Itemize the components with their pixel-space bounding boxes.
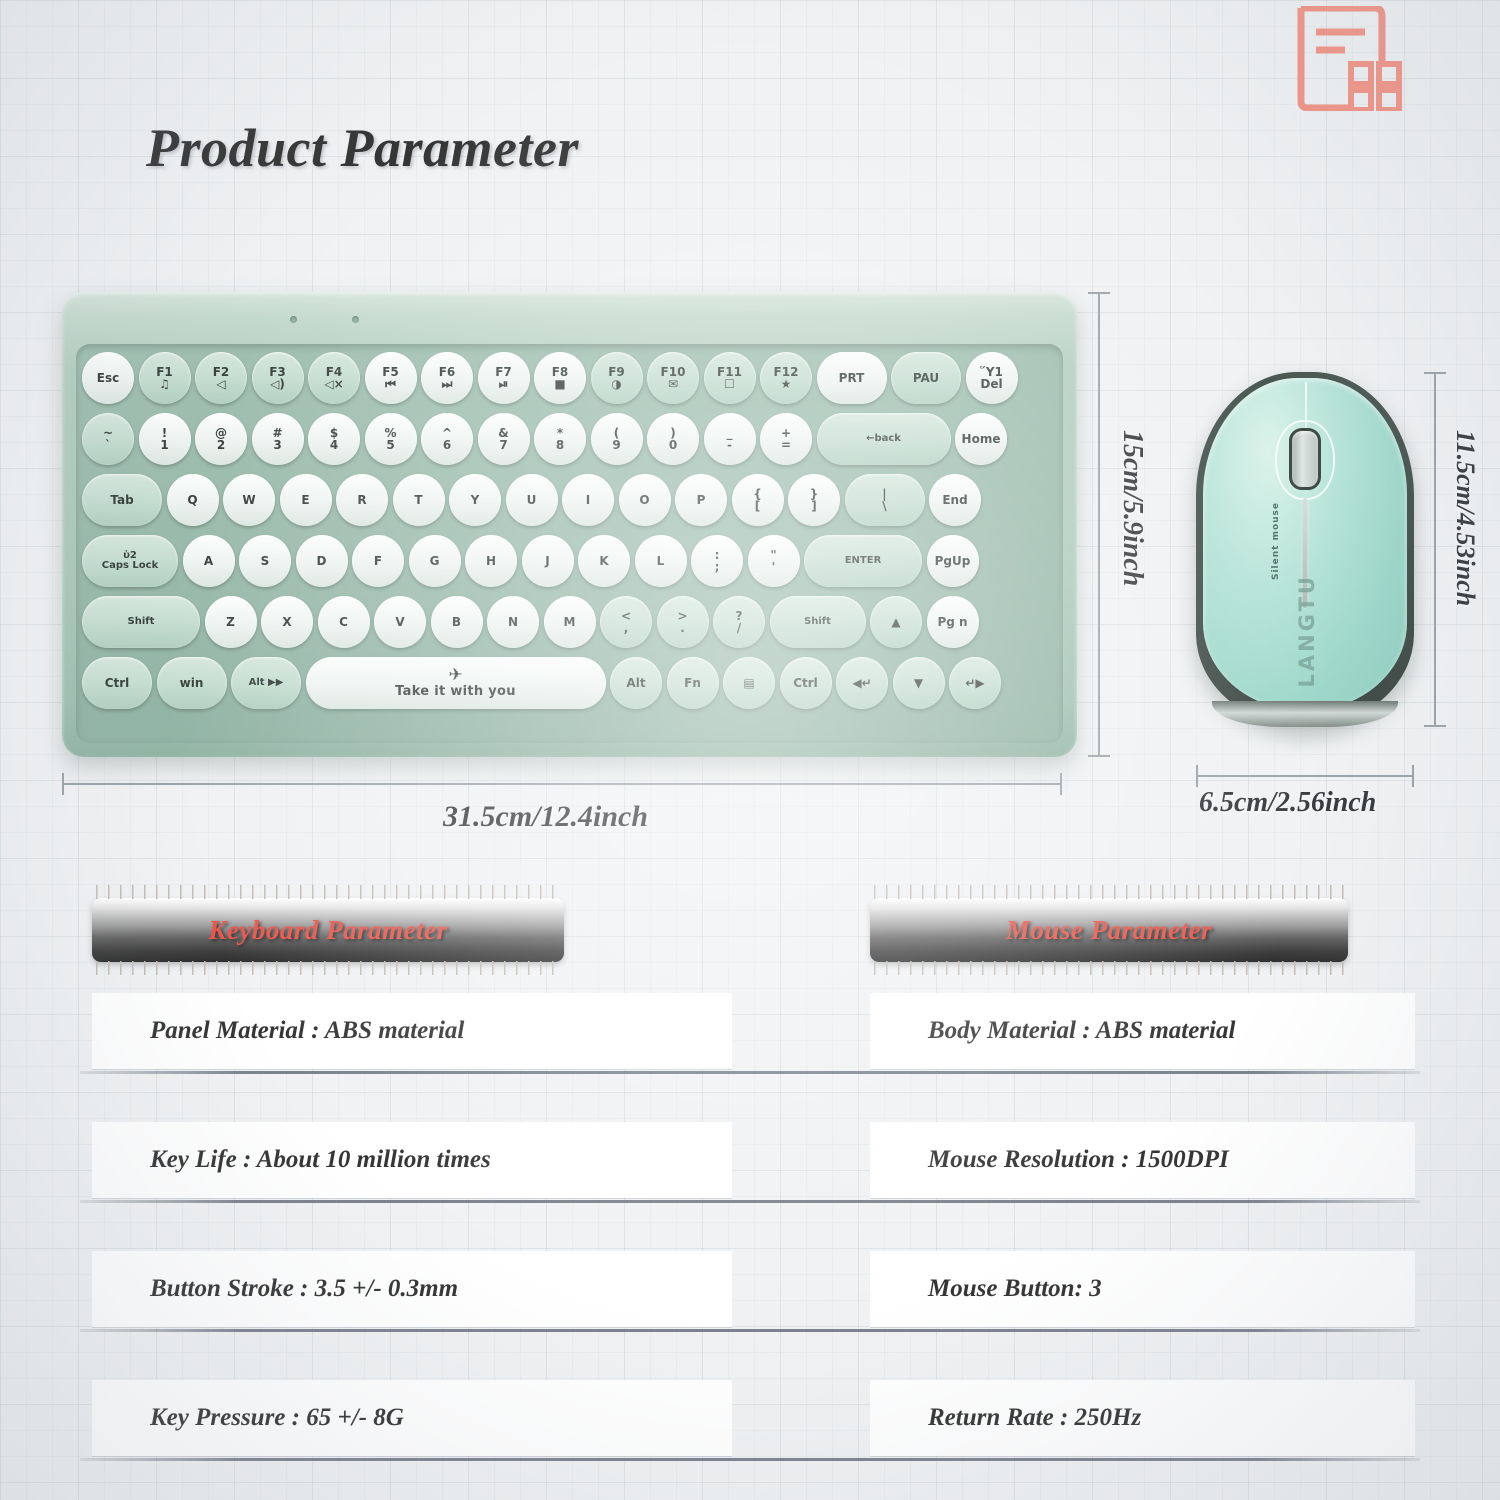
mouse-width-cap-right <box>1412 765 1414 787</box>
key-main-legend: S <box>261 555 270 567</box>
param-row-divider <box>80 1071 1420 1074</box>
page-title: Product Parameter <box>146 117 579 179</box>
key-main-legend: T <box>414 494 422 506</box>
key-v[interactable]: V <box>374 596 426 648</box>
mouse-param-text: Return Rate : 250Hz <box>870 1404 1141 1432</box>
key-6[interactable]: ^6 <box>421 413 473 465</box>
key-x[interactable]: X <box>261 596 313 648</box>
key-main-legend: ▤ <box>743 677 754 689</box>
key-key[interactable]: ◀↵ <box>836 657 888 709</box>
key-l[interactable]: L <box>635 535 687 587</box>
key-alt[interactable]: Alt <box>610 657 662 709</box>
key-main-legend: ★ <box>781 378 792 390</box>
key-shift[interactable]: Shift <box>770 596 866 648</box>
key-w[interactable]: W <box>223 474 275 526</box>
mouse-param-row: Return Rate : 250Hz <box>870 1380 1415 1456</box>
key-main-legend: 7 <box>499 439 507 451</box>
key-main-legend: Ctrl <box>105 677 130 689</box>
key-5[interactable]: %5 <box>365 413 417 465</box>
key-main-legend: Shift <box>128 617 155 627</box>
key-key[interactable]: F7⏯ <box>478 352 530 404</box>
mouse-top-surface: Silent mouse LANGTU <box>1203 378 1407 711</box>
banner-ticks-top <box>874 885 1344 899</box>
banner-ticks-bottom <box>96 961 560 975</box>
keyboard-param-text: Button Stroke : 3.5 +/- 0.3mm <box>92 1275 458 1303</box>
key-main-legend: D <box>317 555 327 567</box>
key-main-legend: [ <box>755 500 760 512</box>
keyboard-height-dim-line <box>1098 292 1100 757</box>
key-main-legend: ♫ <box>159 378 170 390</box>
key-main-legend: 8 <box>556 439 564 451</box>
key-home[interactable]: Home <box>955 413 1007 465</box>
key-win[interactable]: win <box>157 657 227 709</box>
key-key[interactable]: <, <box>600 596 652 648</box>
key-esc[interactable]: Esc <box>82 352 134 404</box>
key-alt[interactable]: Alt ▶▶ <box>231 657 301 709</box>
key-main-legend: X <box>282 616 291 628</box>
key-main-legend: PRT <box>839 372 865 384</box>
key-key[interactable]: F3◁) <box>252 352 304 404</box>
key-main-legend: ■ <box>554 378 565 390</box>
key-main-legend: PgUp <box>935 555 971 567</box>
keyboard-height-cap-top <box>1088 292 1110 294</box>
key-main-legend: Tab <box>110 494 133 506</box>
key-end[interactable]: End <box>929 474 981 526</box>
key-shift[interactable]: Shift <box>82 596 200 648</box>
mouse-image: Silent mouse LANGTU <box>1196 372 1414 727</box>
key-z[interactable]: Z <box>205 596 257 648</box>
keyboard-param-text: Panel Material : ABS material <box>92 1017 464 1045</box>
spacebar-slogan: Take it with you <box>395 685 516 698</box>
key-main-legend: ` <box>105 439 111 451</box>
key-0[interactable]: )0 <box>647 413 699 465</box>
keyboard-param-row: Key Life : About 10 million times <box>92 1122 732 1198</box>
key-main-legend: ◁× <box>324 378 343 390</box>
key-main-legend: Y <box>471 494 480 506</box>
key-key[interactable]: F10✉ <box>647 352 699 404</box>
key-main-legend: ←back <box>866 434 901 444</box>
mouse-param-row: Mouse Button: 3 <box>870 1251 1415 1327</box>
key-main-legend: . <box>680 622 685 634</box>
key-key[interactable]: |\ <box>845 474 925 526</box>
key-c[interactable]: C <box>318 596 370 648</box>
key-h[interactable]: H <box>465 535 517 587</box>
key-main-legend: G <box>430 555 440 567</box>
key-e[interactable]: E <box>280 474 332 526</box>
key-del[interactable]: Ὕ1Del <box>966 352 1018 404</box>
key-key[interactable]: F8■ <box>534 352 586 404</box>
key-a[interactable]: A <box>183 535 235 587</box>
key-pgup[interactable]: PgUp <box>927 535 979 587</box>
key-main-legend: J <box>545 555 549 567</box>
key-key[interactable]: ▲ <box>870 596 922 648</box>
mouse-parameter-banner-label: Mouse Parameter <box>1006 915 1212 946</box>
key-main-legend: ▼ <box>914 677 923 689</box>
key-key[interactable]: ▤ <box>723 657 775 709</box>
key-main-legend: Z <box>226 616 235 628</box>
key-u[interactable]: U <box>506 474 558 526</box>
key-main-legend: ENTER <box>845 556 882 566</box>
key-m[interactable]: M <box>544 596 596 648</box>
key-main-legend: 9 <box>612 439 620 451</box>
key-9[interactable]: (9 <box>591 413 643 465</box>
key-main-legend: Q <box>187 494 197 506</box>
key-main-legend: 6 <box>443 439 451 451</box>
document-list-grid-icon <box>1283 6 1403 111</box>
key-main-legend: ' <box>772 561 776 573</box>
key-o[interactable]: O <box>619 474 671 526</box>
key-3[interactable]: #3 <box>252 413 304 465</box>
keyboard-height-label: 15cm/5.9inch <box>1116 430 1148 586</box>
airplane-icon: ✈ <box>448 667 462 684</box>
key-main-legend: 1 <box>160 439 168 451</box>
key-main-legend: R <box>357 494 366 506</box>
key-prt[interactable]: PRT <box>817 352 887 404</box>
keyboard-width-dim-line <box>62 783 1062 785</box>
key-b[interactable]: B <box>431 596 483 648</box>
key-fn[interactable]: Fn <box>667 657 719 709</box>
key-key[interactable]: ↵▶ <box>949 657 1001 709</box>
keyboard-led-1 <box>290 316 297 323</box>
key-main-legend: Ctrl <box>793 677 818 689</box>
key-main-legend: ; <box>715 561 720 573</box>
mouse-width-dim-line <box>1196 775 1414 777</box>
key-key[interactable]: F1♫ <box>139 352 191 404</box>
keyboard-row-4: ὑ2Caps LockASDFGHJKL:;"'ENTERPgUp <box>82 533 1065 589</box>
key-1[interactable]: !1 <box>139 413 191 465</box>
mouse-width-cap-left <box>1196 765 1198 787</box>
key-t[interactable]: T <box>393 474 445 526</box>
mouse-param-text: Mouse Resolution : 1500DPI <box>870 1146 1229 1174</box>
key-main-legend: H <box>486 555 496 567</box>
key-main-legend: L <box>657 555 665 567</box>
key-main-legend: ✉ <box>668 378 678 390</box>
key-main-legend: End <box>942 494 967 506</box>
key-main-legend: 4 <box>330 439 338 451</box>
keyboard-row-5: ShiftZXCVBNM<,>.?/Shift▲Pg n <box>82 594 1065 650</box>
mouse-parameter-banner: Mouse Parameter <box>870 898 1348 962</box>
key-main-legend: O <box>639 494 649 506</box>
banner-ticks-top <box>96 885 560 899</box>
keyboard-param-row: Key Pressure : 65 +/- 8G <box>92 1380 732 1456</box>
keyboard-image: EscF1♫F2◁F3◁)F4◁×F5⏮F6⏭F7⏯F8■F9◑F10✉F11☐… <box>62 292 1077 757</box>
key-key[interactable]: F6⏭ <box>421 352 473 404</box>
key-8[interactable]: *8 <box>534 413 586 465</box>
key-main-legend: Del <box>980 378 1002 390</box>
key-main-legend: ◑ <box>611 378 621 390</box>
key-main-legend: win <box>180 677 204 689</box>
key-main-legend: ] <box>811 500 816 512</box>
key-back[interactable]: ←back <box>817 413 951 465</box>
keyboard-width-cap-right <box>1060 773 1062 795</box>
key-enter[interactable]: ENTER <box>804 535 922 587</box>
key-key[interactable]: "' <box>748 535 800 587</box>
key-p[interactable]: P <box>675 474 727 526</box>
key-main-legend: I <box>586 494 590 506</box>
key-main-legend: 3 <box>273 439 281 451</box>
keyboard-width-label: 31.5cm/12.4inch <box>443 800 648 834</box>
key-y[interactable]: Y <box>449 474 501 526</box>
key-ctrl[interactable]: Ctrl <box>780 657 832 709</box>
key-key[interactable]: ~` <box>82 413 134 465</box>
mouse-height-label: 11.5cm/4.53inch <box>1450 430 1480 606</box>
banner-ticks-bottom <box>874 961 1344 975</box>
mouse-param-text: Body Material : ABS material <box>870 1017 1235 1045</box>
key-i[interactable]: I <box>562 474 614 526</box>
keyboard-height-cap-bottom <box>1088 755 1110 757</box>
keyboard-row-1: EscF1♫F2◁F3◁)F4◁×F5⏮F6⏭F7⏯F8■F9◑F10✉F11☐… <box>82 350 1065 406</box>
key-pau[interactable]: PAU <box>891 352 961 404</box>
key-main-legend: ☐ <box>724 378 735 390</box>
scroll-wheel-icon <box>1289 428 1321 490</box>
key-key[interactable]: ?/ <box>713 596 765 648</box>
key-main-legend: = <box>781 439 791 451</box>
key-key[interactable]: += <box>760 413 812 465</box>
keyboard-row-2: ~`!1@2#3$4%5^6&7*8(9)0_-+=←backHome <box>82 411 1065 467</box>
key-main-legend: ▲ <box>891 616 900 628</box>
key-main-legend: Alt ▶▶ <box>249 678 284 688</box>
key-k[interactable]: K <box>578 535 630 587</box>
key-main-legend: N <box>508 616 518 628</box>
key-main-legend: Pg n <box>937 616 967 628</box>
mouse-base <box>1212 701 1398 727</box>
key-n[interactable]: N <box>487 596 539 648</box>
key-main-legend: ⏭ <box>442 378 453 390</box>
mouse-param-row: Mouse Resolution : 1500DPI <box>870 1122 1415 1198</box>
key-main-legend: M <box>564 616 576 628</box>
key-main-legend: Esc <box>97 372 119 384</box>
key-key[interactable]: F2◁ <box>195 352 247 404</box>
key-d[interactable]: D <box>296 535 348 587</box>
mouse-param-text: Mouse Button: 3 <box>870 1275 1102 1303</box>
key-main-legend: , <box>624 622 629 634</box>
key-r[interactable]: R <box>336 474 388 526</box>
key-key[interactable]: ▼ <box>893 657 945 709</box>
keyboard-led-2 <box>352 316 359 323</box>
key-key[interactable]: :; <box>691 535 743 587</box>
keyboard-key-rows: EscF1♫F2◁F3◁)F4◁×F5⏮F6⏭F7⏯F8■F9◑F10✉F11☐… <box>82 350 1065 716</box>
param-row-divider <box>80 1329 1420 1332</box>
key-main-legend: 2 <box>217 439 225 451</box>
key-key[interactable]: F12★ <box>760 352 812 404</box>
key-caps-lock[interactable]: ὑ2Caps Lock <box>82 535 178 587</box>
mouse-width-label: 6.5cm/2.56inch <box>1199 787 1376 819</box>
key-main-legend: W <box>242 494 255 506</box>
key-q[interactable]: Q <box>167 474 219 526</box>
key-g[interactable]: G <box>409 535 461 587</box>
key-key[interactable]: _- <box>704 413 756 465</box>
key-s[interactable]: S <box>239 535 291 587</box>
key-main-legend: B <box>452 616 461 628</box>
keyboard-param-text: Key Pressure : 65 +/- 8G <box>92 1404 404 1432</box>
mouse-side-text: Silent mouse <box>1271 502 1281 580</box>
key-main-legend: \ <box>882 500 886 512</box>
key-main-legend: ◁) <box>270 378 285 390</box>
key-main-legend: P <box>697 494 706 506</box>
keyboard-row-6: CtrlwinAlt ▶▶✈Take it with youAltFn▤Ctrl… <box>82 655 1065 711</box>
keyboard-param-text: Key Life : About 10 million times <box>92 1146 491 1174</box>
key-2[interactable]: @2 <box>195 413 247 465</box>
key-pg-n[interactable]: Pg n <box>927 596 979 648</box>
mouse-height-cap-top <box>1424 372 1446 374</box>
key-main-legend: ↵▶ <box>965 677 984 689</box>
key-key[interactable]: }] <box>788 474 840 526</box>
key-main-legend: - <box>727 439 732 451</box>
keyboard-parameter-banner-label: Keyboard Parameter <box>208 915 447 946</box>
key-7[interactable]: &7 <box>478 413 530 465</box>
key-main-legend: 0 <box>669 439 677 451</box>
keyboard-row-3: TabQWERTYUIOP{[}]|\End <box>82 472 1065 528</box>
key-main-legend: ⏯ <box>499 378 509 390</box>
key-main-legend: E <box>301 494 309 506</box>
key-main-legend: ◀↵ <box>852 677 871 689</box>
keyboard-param-row: Button Stroke : 3.5 +/- 0.3mm <box>92 1251 732 1327</box>
key-ctrl[interactable]: Ctrl <box>82 657 152 709</box>
keyboard-param-row: Panel Material : ABS material <box>92 993 732 1069</box>
key-key[interactable]: >. <box>657 596 709 648</box>
key-key[interactable]: F5⏮ <box>365 352 417 404</box>
key-main-legend: K <box>599 555 608 567</box>
key-tab[interactable]: Tab <box>82 474 162 526</box>
key-f[interactable]: F <box>352 535 404 587</box>
key-key[interactable]: F9◑ <box>591 352 643 404</box>
key-main-legend: PAU <box>913 372 939 384</box>
mouse-height-cap-bottom <box>1424 725 1446 727</box>
key-main-legend: ⏮ <box>385 378 396 390</box>
key-main-legend: Shift <box>804 617 831 627</box>
mouse-param-row: Body Material : ABS material <box>870 993 1415 1069</box>
key-main-legend: 5 <box>386 439 394 451</box>
param-row-divider <box>80 1458 1420 1461</box>
key-main-legend: Alt <box>626 677 645 689</box>
key-main-legend: U <box>527 494 537 506</box>
key-main-legend: ◁ <box>216 378 225 390</box>
key-j[interactable]: J <box>522 535 574 587</box>
key-key[interactable]: {[ <box>732 474 784 526</box>
keyboard-parameter-banner: Keyboard Parameter <box>92 898 564 962</box>
key-main-legend: Fn <box>684 677 701 689</box>
key-key[interactable]: F11☐ <box>704 352 756 404</box>
key-main-legend: V <box>395 616 404 628</box>
key-main-legend: A <box>204 555 213 567</box>
key-spacebar[interactable]: ✈Take it with you <box>306 657 606 709</box>
key-main-legend: F <box>374 555 382 567</box>
key-main-legend: / <box>737 622 741 634</box>
mouse-height-dim-line <box>1434 372 1436 727</box>
key-4[interactable]: $4 <box>308 413 360 465</box>
mouse-brand-label: LANGTU <box>1295 574 1319 687</box>
key-key[interactable]: F4◁× <box>308 352 360 404</box>
keyboard-width-cap-left <box>62 773 64 795</box>
key-main-legend: Home <box>962 433 1001 445</box>
param-row-divider <box>80 1200 1420 1203</box>
key-main-legend: C <box>339 616 348 628</box>
key-main-legend: Caps Lock <box>102 561 159 571</box>
